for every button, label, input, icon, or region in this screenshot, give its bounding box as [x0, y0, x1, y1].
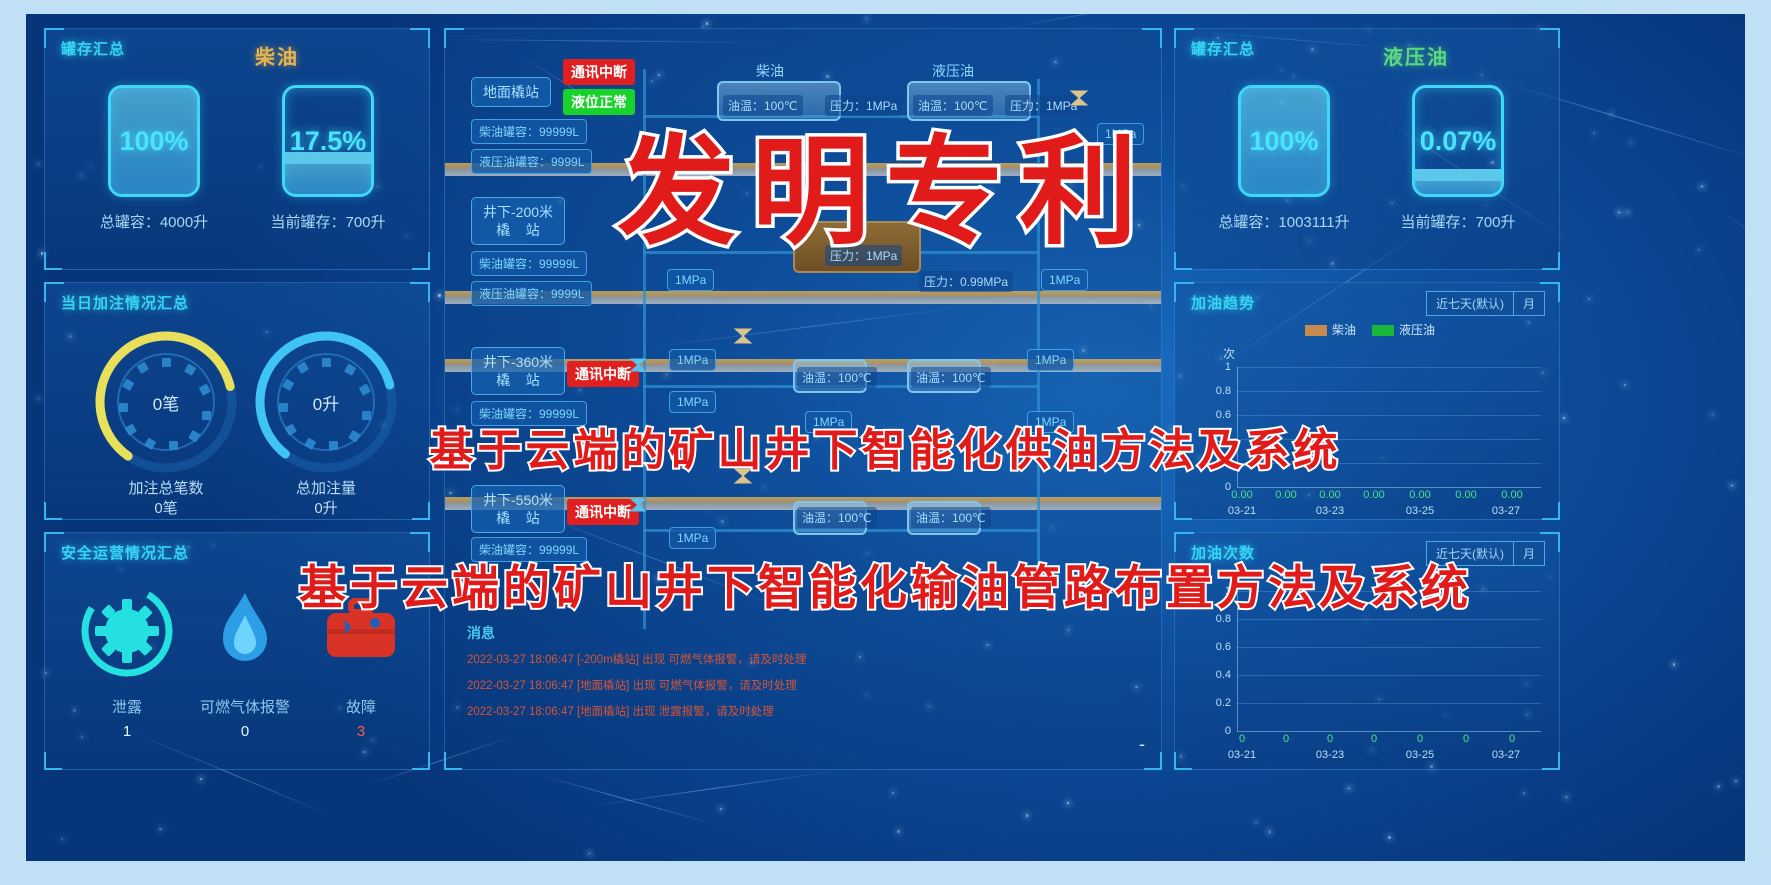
x-tick: 03-21 [1219, 505, 1265, 517]
panel-title: 加油趋势 [1191, 292, 1255, 313]
caption-line-2: 0升 [226, 499, 426, 519]
chip-diesel-capacity-200m: 柴油罐容：99999L [471, 251, 587, 276]
x-tick: 03-27 [1483, 505, 1529, 517]
panel-title: 罐存汇总 [1191, 38, 1255, 59]
chart-ylabel-volume: 次 [1223, 345, 1235, 362]
status-badge-comm-interrupted-550m: 通讯中断 [567, 499, 639, 525]
chip-diesel-capacity-surface: 柴油罐容：99999L [471, 119, 587, 144]
pressure-chip-7: 1MPa [805, 411, 852, 433]
panel-tank-diesel: 罐存汇总 柴油 100% 总罐容：4000升 17.5% 当前罐存：700升 [44, 28, 430, 270]
y-tick: 0.2 [1205, 457, 1231, 469]
point-label: 0 [1351, 733, 1397, 745]
station-node-550m[interactable]: 井下-550米 橇 站 [471, 485, 565, 533]
pressure-chip-9: 1MPa [669, 527, 716, 549]
tank-graphic: 100% [1238, 85, 1330, 197]
chip-hydraulic-capacity-200m: 液压油罐容：9999L [471, 281, 592, 306]
equipment-label-diesel: 柴油 [751, 59, 789, 83]
tank-caption: 总罐容：1003111升 [1209, 211, 1359, 232]
pipe-vertical-right [1037, 79, 1040, 599]
panel-title: 罐存汇总 [61, 38, 125, 59]
pressure-chip-8: 1MPa [1027, 411, 1074, 433]
panel-trend-volume: 加油趋势 近七天(默认) 月 柴油 液压油 次 1 0.8 0.6 0.4 0.… [1174, 282, 1560, 520]
gauge-total-capacity-hydraulic: 100% 总罐容：1003111升 [1209, 85, 1359, 232]
point-label: 0 [1397, 733, 1443, 745]
pressure-chip-4: 1MPa [669, 349, 716, 371]
y-axis [1237, 591, 1238, 731]
point-label: 0 [1443, 733, 1489, 745]
gridline [1237, 591, 1541, 592]
range-button-week[interactable]: 近七天(默认) [1426, 291, 1514, 316]
chart-plot-volume: 1 0.8 0.6 0.4 0.2 0 0.00 0.00 0.00 0.00 … [1211, 367, 1541, 487]
point-label: 0.00 [1263, 489, 1309, 501]
gridline [1237, 703, 1541, 704]
point-label: 0.00 [1489, 489, 1535, 501]
gauge-current-stock-diesel: 17.5% 当前罐存：700升 [253, 85, 403, 232]
range-button-group-count[interactable]: 近七天(默认) 月 [1426, 541, 1545, 566]
message-log-line: 2022-03-27 18:06:47 [地面橇站] 出现 可燃气体报警，请及时… [467, 677, 797, 693]
message-log-line: 2022-03-27 18:06:47 [-200m橇站] 出现 可燃气体报警，… [467, 651, 806, 667]
safety-item-gas-alarm[interactable]: 可燃气体报警 0 [185, 585, 305, 740]
safety-label: 可燃气体报警 [185, 696, 305, 717]
point-label: 0 [1263, 733, 1309, 745]
station-node-360m[interactable]: 井下-360米 橇 站 [471, 347, 565, 395]
ring-center-value: 0笔 [91, 327, 241, 477]
panel-schematic: 地面橇站 通讯中断 液位正常 柴油罐容：99999L 液压油罐容：9999L 井… [444, 28, 1162, 770]
chip-hydraulic-capacity-surface: 液压油罐容：9999L [471, 149, 592, 174]
toolbox-icon [315, 664, 407, 681]
y-tick: 0.8 [1205, 613, 1231, 625]
pressure-chip-2: 1MPa [667, 269, 714, 291]
range-button-month[interactable]: 月 [1514, 541, 1545, 566]
safety-value: 0 [185, 723, 305, 740]
flame-icon [199, 664, 291, 681]
dashboard-screen: 罐存汇总 柴油 100% 总罐容：4000升 17.5% 当前罐存：700升 当… [26, 14, 1745, 861]
point-label: 0.00 [1397, 489, 1443, 501]
pressure-chip-1: 1MPa [1097, 123, 1144, 145]
gridline [1237, 367, 1541, 368]
range-button-month[interactable]: 月 [1514, 291, 1545, 316]
readout-oil-temp-6: 油温：100℃ [911, 507, 991, 528]
equipment-label-hydraulic: 液压油 [927, 59, 979, 83]
x-axis [1237, 731, 1541, 732]
station-node-200m[interactable]: 井下-200米 橇 站 [471, 197, 565, 245]
panel-subject-hydraulic: 液压油 [1383, 41, 1449, 70]
ring-center-value: 0升 [251, 327, 401, 477]
legend-swatch-diesel [1305, 325, 1327, 336]
point-label: 0.00 [1351, 489, 1397, 501]
y-tick: 0.8 [1205, 385, 1231, 397]
ring-gauge-fill-count: 0笔 [91, 327, 241, 477]
gauge-total-capacity-diesel: 100% 总罐容：4000升 [79, 85, 229, 232]
gridline [1237, 391, 1541, 392]
tank-percent: 17.5% [285, 88, 371, 194]
status-badge-level-normal: 液位正常 [563, 89, 635, 115]
x-axis [1237, 487, 1541, 488]
point-label: 0.00 [1443, 489, 1489, 501]
panel-safety-summary: 安全运营情况汇总 [44, 532, 430, 770]
y-tick: 0.2 [1205, 697, 1231, 709]
y-tick: 1 [1205, 361, 1231, 373]
status-badge-comm-interrupted-360m: 通讯中断 [567, 361, 639, 387]
tank-caption: 当前罐存：700升 [253, 211, 403, 232]
x-tick: 03-27 [1483, 749, 1529, 761]
safety-label: 故障 [301, 696, 421, 717]
readout-oil-temp-2: 油温：100℃ [913, 95, 993, 116]
panel-title: 当日加注情况汇总 [61, 292, 189, 313]
pressure-chip-3: 1MPa [1041, 269, 1088, 291]
outer-frame: 罐存汇总 柴油 100% 总罐容：4000升 17.5% 当前罐存：700升 当… [0, 0, 1771, 885]
point-label: 0 [1307, 733, 1353, 745]
x-tick: 03-25 [1397, 505, 1443, 517]
readout-pressure-3: 压力：1MPa [825, 245, 902, 266]
legend-entry-diesel: 柴油 [1305, 321, 1356, 338]
y-tick: 0.4 [1205, 433, 1231, 445]
legend-swatch-hydraulic [1372, 325, 1394, 336]
point-label: 0.00 [1307, 489, 1353, 501]
y-tick: 1 [1205, 585, 1231, 597]
safety-item-leak[interactable]: 泄露 1 [67, 585, 187, 740]
range-button-week[interactable]: 近七天(默认) [1426, 541, 1514, 566]
tank-caption: 总罐容：4000升 [79, 211, 229, 232]
panel-trend-count: 加油次数 近七天(默认) 月 1 0.8 0.6 0.4 0.2 0 0 0 0… [1174, 532, 1560, 770]
tank-percent: 100% [1241, 88, 1327, 194]
tank-graphic: 17.5% [282, 85, 374, 197]
readout-pressure-4: 压力：0.99MPa [919, 271, 1013, 292]
readout-oil-temp-3: 油温：100℃ [797, 367, 877, 388]
ring-caption-fill-volume: 总加注量 0升 [226, 479, 426, 519]
zoom-out-button[interactable]: - [1139, 734, 1145, 755]
chip-diesel-capacity-550m: 柴油罐容：99999L [471, 537, 587, 562]
message-log-title: 消息 [467, 623, 495, 643]
message-log-line: 2022-03-27 18:06:47 [地面橇站] 出现 泄露报警，请及时处理 [467, 703, 774, 719]
readout-oil-temp-4: 油温：100℃ [911, 367, 991, 388]
gear-leak-icon [81, 664, 173, 681]
gridline [1237, 439, 1541, 440]
y-tick: 0.6 [1205, 409, 1231, 421]
gauge-current-stock-hydraulic: 0.07% 当前罐存：700升 [1383, 85, 1533, 232]
x-tick: 03-23 [1307, 505, 1353, 517]
readout-pressure-2: 压力：1MPa [1005, 95, 1082, 116]
readout-oil-temp-1: 油温：100℃ [723, 95, 803, 116]
safety-item-fault[interactable]: 故障 3 [301, 585, 421, 740]
point-label: 0 [1489, 733, 1535, 745]
chart-plot-count: 1 0.8 0.6 0.4 0.2 0 0 0 0 0 0 0 0 03-21 … [1211, 591, 1541, 735]
panel-subject-diesel: 柴油 [255, 41, 299, 70]
tank-graphic: 100% [108, 85, 200, 197]
x-tick: 03-25 [1397, 749, 1443, 761]
point-label: 0 [1219, 733, 1265, 745]
range-button-group-volume[interactable]: 近七天(默认) 月 [1426, 291, 1545, 316]
chip-diesel-capacity-360m: 柴油罐容：99999L [471, 401, 587, 426]
gridline [1237, 647, 1541, 648]
pipe-vertical-main [643, 69, 646, 629]
caption-line-1: 总加注量 [226, 479, 426, 499]
y-tick: 0.4 [1205, 669, 1231, 681]
point-label: 0.00 [1219, 489, 1265, 501]
tank-graphic: 0.07% [1412, 85, 1504, 197]
tank-caption: 当前罐存：700升 [1383, 211, 1533, 232]
ring-gauge-fill-volume: 0升 [251, 327, 401, 477]
panel-daily-fill: 当日加注情况汇总 [44, 282, 430, 520]
safety-label: 泄露 [67, 696, 187, 717]
y-axis [1237, 367, 1238, 487]
gridline [1237, 463, 1541, 464]
tank-percent: 0.07% [1415, 88, 1501, 194]
readout-oil-temp-5: 油温：100℃ [797, 507, 877, 528]
x-tick: 03-21 [1219, 749, 1265, 761]
x-tick: 03-23 [1307, 749, 1353, 761]
readout-pressure-1: 压力：1MPa [825, 95, 902, 116]
pressure-chip-5: 1MPa [1027, 349, 1074, 371]
legend-entry-hydraulic: 液压油 [1372, 321, 1435, 338]
y-tick: 0.6 [1205, 641, 1231, 653]
panel-title: 加油次数 [1191, 542, 1255, 563]
gridline [1237, 415, 1541, 416]
panel-title: 安全运营情况汇总 [61, 542, 189, 563]
chart-legend-volume: 柴油 液压油 [1305, 321, 1435, 338]
tank-percent: 100% [111, 88, 197, 194]
gridline [1237, 675, 1541, 676]
safety-value: 1 [67, 723, 187, 740]
pressure-chip-6: 1MPa [669, 391, 716, 413]
panel-tank-hydraulic: 罐存汇总 液压油 100% 总罐容：1003111升 0.07% 当前罐存：70… [1174, 28, 1560, 270]
status-badge-comm-interrupted: 通讯中断 [563, 59, 635, 85]
safety-value: 3 [301, 723, 421, 740]
gridline [1237, 619, 1541, 620]
station-node-surface[interactable]: 地面橇站 [471, 77, 551, 107]
